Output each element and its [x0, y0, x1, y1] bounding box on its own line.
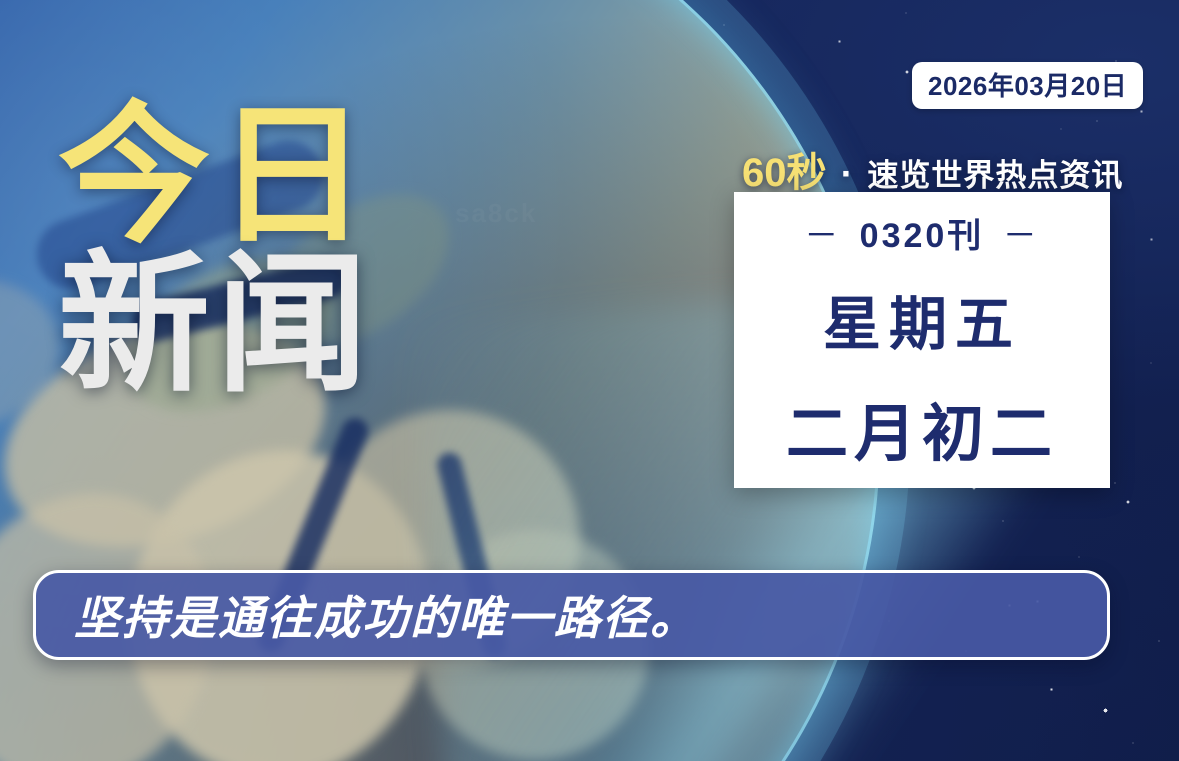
- issue-dash-right: －: [997, 217, 1046, 255]
- quote-banner: 坚持是通往成功的唯一路径。: [33, 570, 1110, 660]
- tagline-separator: ·: [837, 153, 857, 194]
- weekday-label: 星期五: [823, 277, 1021, 361]
- tagline: 60秒 · 速览世界热点资讯: [742, 140, 1123, 198]
- quote-text: 坚持是通往成功的唯一路径。: [36, 582, 698, 648]
- page-title-line-today: 今日: [58, 96, 374, 257]
- lunar-date-label: 二月初二: [786, 383, 1058, 473]
- page-title-line-news: 新闻: [58, 245, 374, 406]
- date-info-card: － 0320刊 － 星期五 二月初二: [734, 192, 1110, 488]
- page-title: 今日 新闻: [58, 96, 374, 406]
- news-card-poster: sa8ck 今日 新闻 2026年03月20日 60秒 · 速览世界热点资讯 －…: [0, 0, 1179, 761]
- issue-dash-left: －: [798, 217, 847, 255]
- tagline-rest: 速览世界热点资讯: [867, 158, 1123, 193]
- issue-number: 0320刊: [860, 217, 985, 255]
- tagline-seconds: 60秒: [742, 151, 827, 195]
- watermark-text: sa8ck: [455, 198, 537, 229]
- date-badge: 2026年03月20日: [912, 62, 1143, 109]
- issue-number-row: － 0320刊 －: [798, 208, 1046, 257]
